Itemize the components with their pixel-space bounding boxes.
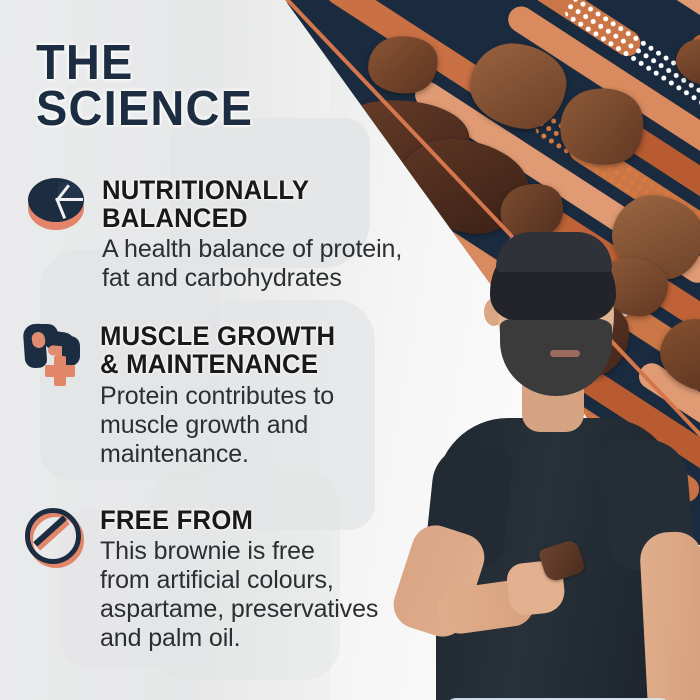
benefit-text-block: NUTRITIONALLY BALANCED A health balance … xyxy=(102,176,402,293)
pie-chart-icon xyxy=(28,176,86,234)
plus-icon-horizontal xyxy=(45,365,75,377)
prohibition-ring xyxy=(25,508,81,564)
benefit-item-free-from: FREE FROM This brownie is free from arti… xyxy=(24,506,378,653)
benefit-body: Protein contributes to muscle growth and… xyxy=(100,382,343,469)
flexed-bicep-glyph xyxy=(22,322,86,386)
benefit-body-line: maintenance. xyxy=(100,440,343,469)
benefit-body-line: fat and carbohydrates xyxy=(102,264,402,293)
benefit-body-line: This brownie is free xyxy=(100,537,378,566)
prohibition-glyph xyxy=(24,506,80,562)
page-title-line-1: THE xyxy=(36,40,253,86)
benefit-title-line-2: BALANCED xyxy=(102,204,393,232)
benefit-body-line: aspartame, preservatives xyxy=(100,595,378,624)
prohibition-no-icon xyxy=(24,506,82,564)
benefit-body: This brownie is free from artificial col… xyxy=(100,537,378,653)
benefit-text-block: FREE FROM This brownie is free from arti… xyxy=(100,506,378,653)
benefit-body-line: A health balance of protein, xyxy=(102,235,402,264)
pie-chart-divider xyxy=(56,198,83,201)
benefit-body-line: from artificial colours, xyxy=(100,566,378,595)
benefit-body-line: and palm oil. xyxy=(100,624,378,653)
benefit-title-line-1: NUTRITIONALLY xyxy=(102,176,393,204)
pie-chart-glyph xyxy=(28,176,84,232)
flexed-bicep-plus-icon xyxy=(22,322,88,388)
page-title-line-2: SCIENCE xyxy=(36,86,253,132)
benefit-title-line-1: FREE FROM xyxy=(100,506,370,534)
benefit-body-line: Protein contributes to xyxy=(100,382,343,411)
page-title: THE SCIENCE xyxy=(36,40,262,132)
benefit-title-line-2: & MAINTENANCE xyxy=(100,350,335,378)
benefit-text-block: MUSCLE GROWTH & MAINTENANCE Protein cont… xyxy=(100,322,343,469)
benefit-title-line-1: MUSCLE GROWTH xyxy=(100,322,335,350)
benefit-item-nutritionally-balanced: NUTRITIONALLY BALANCED A health balance … xyxy=(28,176,402,293)
benefit-body: A health balance of protein, fat and car… xyxy=(102,235,402,293)
benefit-item-muscle-growth: MUSCLE GROWTH & MAINTENANCE Protein cont… xyxy=(22,322,343,469)
benefit-body-line: muscle growth and xyxy=(100,411,343,440)
infographic-canvas: THE SCIENCE NUTRITIONALLY BALANCED xyxy=(0,0,700,700)
